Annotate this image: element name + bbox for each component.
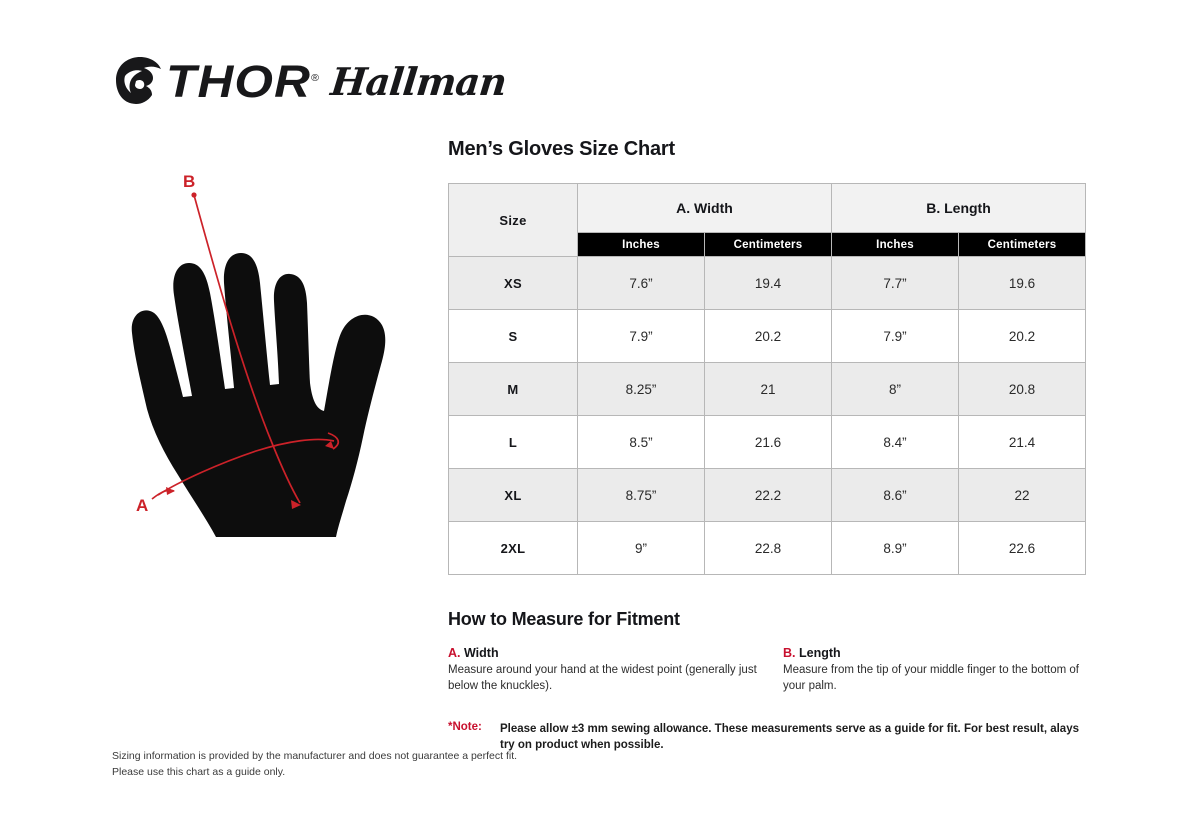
cell-length-centimeters: 19.6 — [959, 257, 1086, 310]
cell-size: S — [449, 310, 578, 363]
cell-length-centimeters: 20.2 — [959, 310, 1086, 363]
size-chart-table: Size A. Width B. Length Inches Centimete… — [448, 183, 1086, 575]
measure-width-name: Width — [464, 646, 499, 660]
cell-width-centimeters: 21.6 — [705, 416, 832, 469]
hallman-logo: Hallman — [329, 63, 508, 101]
cell-width-centimeters: 22.8 — [705, 522, 832, 575]
measure-length-heading: B. Length — [783, 646, 1088, 660]
how-to-measure-columns: A. Width Measure around your hand at the… — [448, 646, 1088, 695]
hallman-wordmark-text: Hallman — [328, 59, 508, 104]
cell-width-inches: 8.25” — [578, 363, 705, 416]
measure-width-letter: A. — [448, 646, 461, 660]
cell-length-inches: 8.9” — [832, 522, 959, 575]
cell-width-inches: 8.5” — [578, 416, 705, 469]
cell-size: M — [449, 363, 578, 416]
footer-disclaimer: Sizing information is provided by the ma… — [112, 748, 517, 781]
size-chart-content: Men’s Gloves Size Chart Size A. Width B.… — [448, 138, 1088, 754]
cell-width-inches: 7.6” — [578, 257, 705, 310]
column-header-length-inches: Inches — [832, 233, 959, 257]
column-header-size: Size — [449, 184, 578, 257]
diagram-label-a: A — [136, 496, 148, 515]
thor-registered-mark: ® — [311, 72, 320, 83]
how-to-measure-title: How to Measure for Fitment — [448, 609, 1088, 630]
cell-length-centimeters: 21.4 — [959, 416, 1086, 469]
table-row: XS 7.6” 19.4 7.7” 19.6 — [449, 257, 1086, 310]
note-row: *Note: Please allow ±3 mm sewing allowan… — [448, 721, 1088, 754]
cell-length-inches: 7.7” — [832, 257, 959, 310]
cell-length-centimeters: 20.8 — [959, 363, 1086, 416]
measure-length-name: Length — [799, 646, 841, 660]
thor-wordmark: THOR® — [166, 59, 320, 104]
cell-length-inches: 8” — [832, 363, 959, 416]
table-header-row-groups: Size A. Width B. Length — [449, 184, 1086, 233]
measure-width-heading: A. Width — [448, 646, 783, 660]
cell-length-inches: 8.6” — [832, 469, 959, 522]
cell-length-inches: 8.4” — [832, 416, 959, 469]
footer-line-1: Sizing information is provided by the ma… — [112, 748, 517, 764]
thor-wordmark-text: THOR — [166, 56, 311, 107]
table-row: M 8.25” 21 8” 20.8 — [449, 363, 1086, 416]
page-title: Men’s Gloves Size Chart — [448, 138, 1088, 161]
cell-length-inches: 7.9” — [832, 310, 959, 363]
thor-helmet-icon — [112, 54, 164, 111]
table-body: XS 7.6” 19.4 7.7” 19.6 S 7.9” 20.2 7.9” … — [449, 257, 1086, 575]
thor-logo: THOR® — [112, 54, 297, 111]
cell-size: XL — [449, 469, 578, 522]
table-row: XL 8.75” 22.2 8.6” 22 — [449, 469, 1086, 522]
note-text: Please allow ±3 mm sewing allowance. The… — [486, 721, 1088, 754]
hand-measurement-diagram: B A — [120, 165, 430, 555]
column-header-width-inches: Inches — [578, 233, 705, 257]
cell-width-inches: 9” — [578, 522, 705, 575]
cell-width-inches: 7.9” — [578, 310, 705, 363]
measure-length-description: Measure from the tip of your middle fing… — [783, 663, 1088, 695]
cell-width-centimeters: 22.2 — [705, 469, 832, 522]
cell-length-centimeters: 22.6 — [959, 522, 1086, 575]
column-group-header-width: A. Width — [578, 184, 832, 233]
measure-length-letter: B. — [783, 646, 796, 660]
table-row: S 7.9” 20.2 7.9” 20.2 — [449, 310, 1086, 363]
brand-logo-bar: THOR® Hallman — [112, 52, 506, 112]
measure-width-description: Measure around your hand at the widest p… — [448, 663, 783, 695]
cell-width-centimeters: 20.2 — [705, 310, 832, 363]
table-row: L 8.5” 21.6 8.4” 21.4 — [449, 416, 1086, 469]
measure-block-width: A. Width Measure around your hand at the… — [448, 646, 783, 695]
cell-size: 2XL — [449, 522, 578, 575]
cell-width-centimeters: 21 — [705, 363, 832, 416]
cell-size: L — [449, 416, 578, 469]
cell-length-centimeters: 22 — [959, 469, 1086, 522]
measure-block-length: B. Length Measure from the tip of your m… — [783, 646, 1088, 695]
column-header-length-centimeters: Centimeters — [959, 233, 1086, 257]
cell-size: XS — [449, 257, 578, 310]
table-head: Size A. Width B. Length Inches Centimete… — [449, 184, 1086, 257]
footer-line-2: Please use this chart as a guide only. — [112, 764, 517, 780]
column-group-header-length: B. Length — [832, 184, 1086, 233]
column-header-width-centimeters: Centimeters — [705, 233, 832, 257]
cell-width-inches: 8.75” — [578, 469, 705, 522]
diagram-label-b: B — [183, 172, 195, 191]
table-row: 2XL 9” 22.8 8.9” 22.6 — [449, 522, 1086, 575]
cell-width-centimeters: 19.4 — [705, 257, 832, 310]
